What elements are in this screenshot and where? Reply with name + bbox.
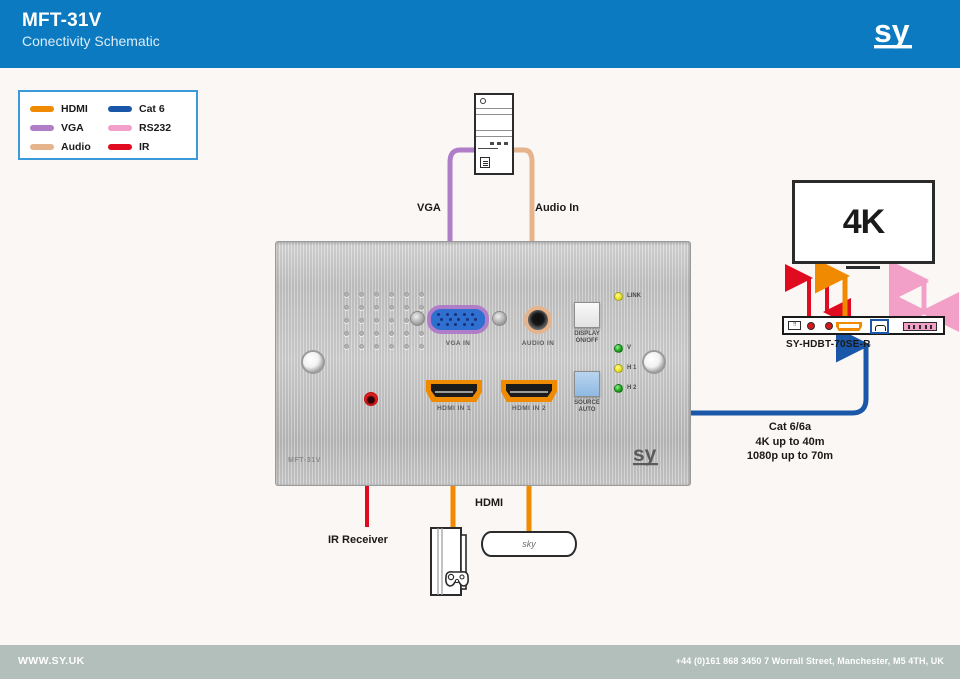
- grille-dot: [404, 318, 409, 323]
- pc-port: [490, 142, 494, 145]
- receiver-model-label: SY-HDBT-70SE-R: [786, 339, 871, 350]
- grille-dot: [359, 292, 364, 297]
- hdmi-in-2-cavity: [506, 384, 552, 397]
- grille-dot: [344, 344, 349, 349]
- label-cat6-run: Cat 6/6a 4K up to 40m 1080p up to 70m: [700, 420, 880, 464]
- source-auto-button[interactable]: [574, 371, 600, 397]
- display-on-off-label: DISPLAY ON/OFF: [564, 331, 610, 345]
- grille-dot: [374, 344, 379, 349]
- led-h2: [614, 384, 623, 393]
- display-label-line2: ON/OFF: [576, 338, 599, 344]
- vga-thumbscrew-left: [410, 311, 425, 326]
- vga-pin: [463, 323, 466, 326]
- grille-dot: [359, 318, 364, 323]
- vga-pins: [436, 312, 480, 327]
- receiver-hdmi-out-port[interactable]: [836, 322, 862, 331]
- vga-pin: [437, 313, 440, 316]
- sky-box-label: sky: [522, 539, 536, 549]
- audio-in-label: AUDIO IN: [508, 340, 568, 347]
- grille-dot: [359, 305, 364, 310]
- ir-receiver-sensor: [364, 392, 378, 406]
- pc-front-ports: [490, 142, 512, 146]
- grille-dot: [389, 331, 394, 336]
- display-label-line1: DISPLAY: [574, 331, 599, 337]
- vga-pin: [449, 318, 452, 321]
- grille-dot: [344, 318, 349, 323]
- grille-dot: [404, 331, 409, 336]
- grille-dot: [374, 292, 379, 297]
- grille-dot: [404, 305, 409, 310]
- pc-divider: [476, 136, 512, 137]
- led-h2-label: H 2: [627, 385, 636, 391]
- pc-port: [504, 142, 508, 145]
- audio-in-port[interactable]: [524, 306, 552, 334]
- grille-dot: [404, 292, 409, 297]
- footer-contact: +44 (0)161 868 3450 7 Worrall Street, Ma…: [676, 656, 944, 666]
- hdmi-in-2-label: HDMI IN 2: [499, 405, 559, 412]
- pc-power-button-icon: [480, 98, 486, 104]
- display-4k-screen: 4K: [792, 180, 935, 264]
- faceplate-sy-logo-icon: sy: [632, 441, 674, 469]
- pc-divider: [478, 148, 498, 149]
- source-label-line1: SOURCE: [574, 400, 600, 406]
- led-v: [614, 344, 623, 353]
- label-audio-in: Audio In: [535, 202, 579, 214]
- grille-dot: [374, 331, 379, 336]
- cable-cat6: [689, 345, 866, 413]
- vga-pin: [440, 318, 443, 321]
- source-auto-label: SOURCE AUTO: [564, 400, 610, 414]
- hdmi-in-2-port[interactable]: [501, 380, 557, 402]
- svg-text:sy: sy: [633, 443, 657, 466]
- led-link: [614, 292, 623, 301]
- grille-dot: [359, 344, 364, 349]
- receiver-ir-jack-2[interactable]: [825, 322, 833, 330]
- vga-pin: [474, 318, 477, 321]
- hdmi-in-1-cavity: [431, 384, 477, 397]
- grille-dot: [419, 331, 424, 336]
- vga-pin: [454, 313, 457, 316]
- label-ir-receiver: IR Receiver: [328, 534, 388, 546]
- led-h1-label: H 1: [627, 365, 636, 371]
- grille-dot: [389, 318, 394, 323]
- hdmi-in-1-port[interactable]: [426, 380, 482, 402]
- receiver-sy-hdbt-70se-r: ⠿: [782, 316, 945, 335]
- cat6-line-1: Cat 6/6a: [700, 420, 880, 435]
- pc-tower: [474, 93, 514, 175]
- label-hdmi: HDMI: [475, 497, 503, 509]
- vga-in-port[interactable]: [427, 305, 489, 334]
- source-label-line2: AUTO: [579, 407, 596, 413]
- receiver-ir-jack-1[interactable]: [807, 322, 815, 330]
- pc-divider: [476, 108, 512, 109]
- cat6-line-2: 4K up to 40m: [700, 435, 880, 450]
- grille-dot: [419, 305, 424, 310]
- vga-pin: [471, 313, 474, 316]
- vga-pin: [466, 318, 469, 321]
- vga-pin: [454, 323, 457, 326]
- grille-dot: [344, 292, 349, 297]
- vga-thumbscrew-right: [492, 311, 507, 326]
- pc-badge-icon: [480, 157, 490, 168]
- grille-dot: [419, 344, 424, 349]
- mounting-screw-left: [301, 350, 325, 374]
- led-link-label: LINK: [627, 293, 641, 299]
- vga-pin: [471, 323, 474, 326]
- vga-pin: [446, 313, 449, 316]
- receiver-rs232-port[interactable]: [903, 322, 937, 331]
- grille-dot: [419, 292, 424, 297]
- grille-dot: [344, 331, 349, 336]
- grille-dot: [389, 292, 394, 297]
- grille-dot: [374, 318, 379, 323]
- display-stand: [846, 266, 880, 269]
- vga-pin: [457, 318, 460, 321]
- vga-pin: [446, 323, 449, 326]
- display-screen-text: 4K: [843, 203, 884, 242]
- grille-dot: [389, 305, 394, 310]
- vga-pin: [463, 313, 466, 316]
- footer-website[interactable]: WWW.SY.UK: [18, 655, 85, 667]
- games-console: [430, 527, 475, 597]
- faceplate-model-label: MFT-31V: [288, 457, 321, 464]
- vga-pin: [437, 323, 440, 326]
- vga-in-label: VGA IN: [427, 340, 489, 347]
- grille-dot: [344, 305, 349, 310]
- pc-port: [497, 142, 501, 145]
- receiver-rj45-port[interactable]: [870, 319, 889, 334]
- wall-plate-mft31v: VGA IN AUDIO IN HDMI IN 1 HDMI IN 2 DISP…: [275, 241, 691, 486]
- receiver-ir-window-icon: ⠿: [788, 321, 801, 330]
- page-footer: WWW.SY.UK +44 (0)161 868 3450 7 Worrall …: [0, 645, 960, 679]
- grille-dot: [389, 344, 394, 349]
- display-on-off-button[interactable]: [574, 302, 600, 328]
- mounting-screw-right: [642, 350, 666, 374]
- label-vga: VGA: [417, 202, 441, 214]
- sky-set-top-box: sky: [481, 531, 577, 557]
- pc-divider: [476, 114, 512, 115]
- grille-dot: [359, 331, 364, 336]
- led-v-label: V: [627, 345, 631, 351]
- led-h1: [614, 364, 623, 373]
- grille-dot: [374, 305, 379, 310]
- pc-divider: [476, 130, 512, 131]
- cat6-line-3: 1080p up to 70m: [700, 449, 880, 464]
- hdmi-in-1-label: HDMI IN 1: [424, 405, 484, 412]
- grille-dot: [404, 344, 409, 349]
